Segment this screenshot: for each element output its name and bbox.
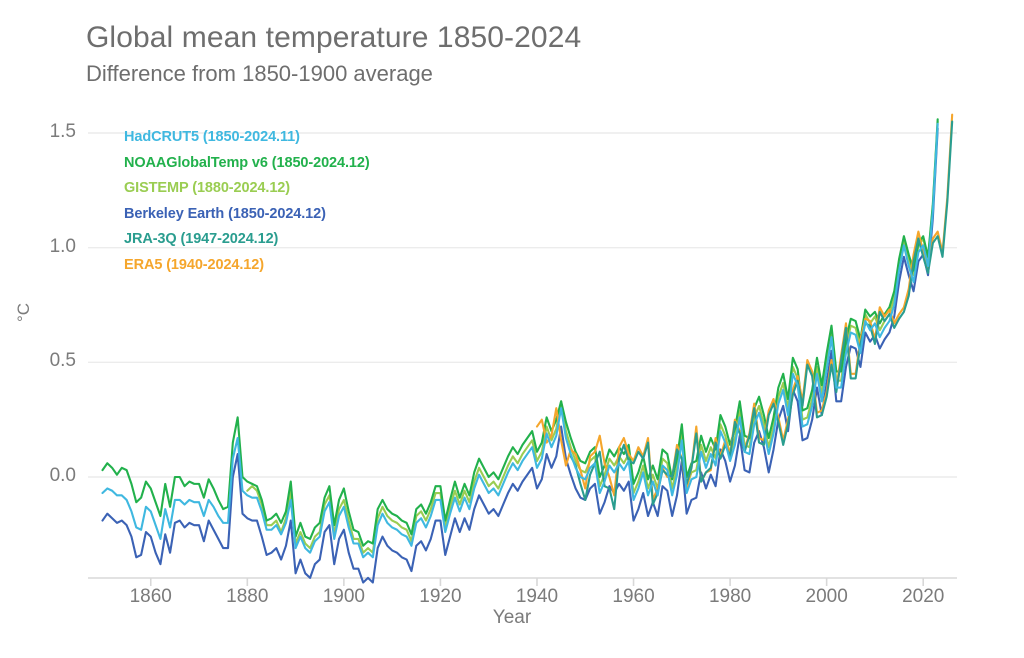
series-line — [247, 122, 937, 553]
legend-item[interactable]: ERA5 (1940-2024.12) — [124, 257, 264, 273]
y-tick-label: 1.0 — [18, 236, 76, 258]
x-tick-label: 1860 — [101, 586, 201, 608]
x-tick-label: 2000 — [777, 586, 877, 608]
legend-item[interactable]: NOAAGlobalTemp v6 (1850-2024.12) — [124, 155, 370, 171]
plot-area — [0, 0, 1024, 658]
x-axis-label: Year — [0, 607, 1024, 629]
x-tick-marks — [151, 578, 923, 586]
chart-figure: Global mean temperature 1850-2024 Differ… — [0, 0, 1024, 658]
x-tick-label: 1880 — [197, 586, 297, 608]
x-tick-label: 1900 — [294, 586, 394, 608]
x-tick-label: 1940 — [487, 586, 587, 608]
x-tick-label: 1960 — [584, 586, 684, 608]
y-tick-label: 0.0 — [18, 465, 76, 487]
y-axis-label: °C — [14, 303, 34, 322]
legend-item[interactable]: JRA-3Q (1947-2024.12) — [124, 231, 278, 247]
x-tick-label: 1980 — [680, 586, 780, 608]
legend-item[interactable]: Berkeley Earth (1850-2024.12) — [124, 206, 326, 222]
legend-item[interactable]: GISTEMP (1880-2024.12) — [124, 180, 290, 196]
x-tick-label: 2020 — [873, 586, 973, 608]
y-tick-label: 0.5 — [18, 350, 76, 372]
legend-item[interactable]: HadCRUT5 (1850-2024.11) — [124, 129, 300, 145]
y-tick-label: 1.5 — [18, 121, 76, 143]
x-tick-label: 1920 — [390, 586, 490, 608]
